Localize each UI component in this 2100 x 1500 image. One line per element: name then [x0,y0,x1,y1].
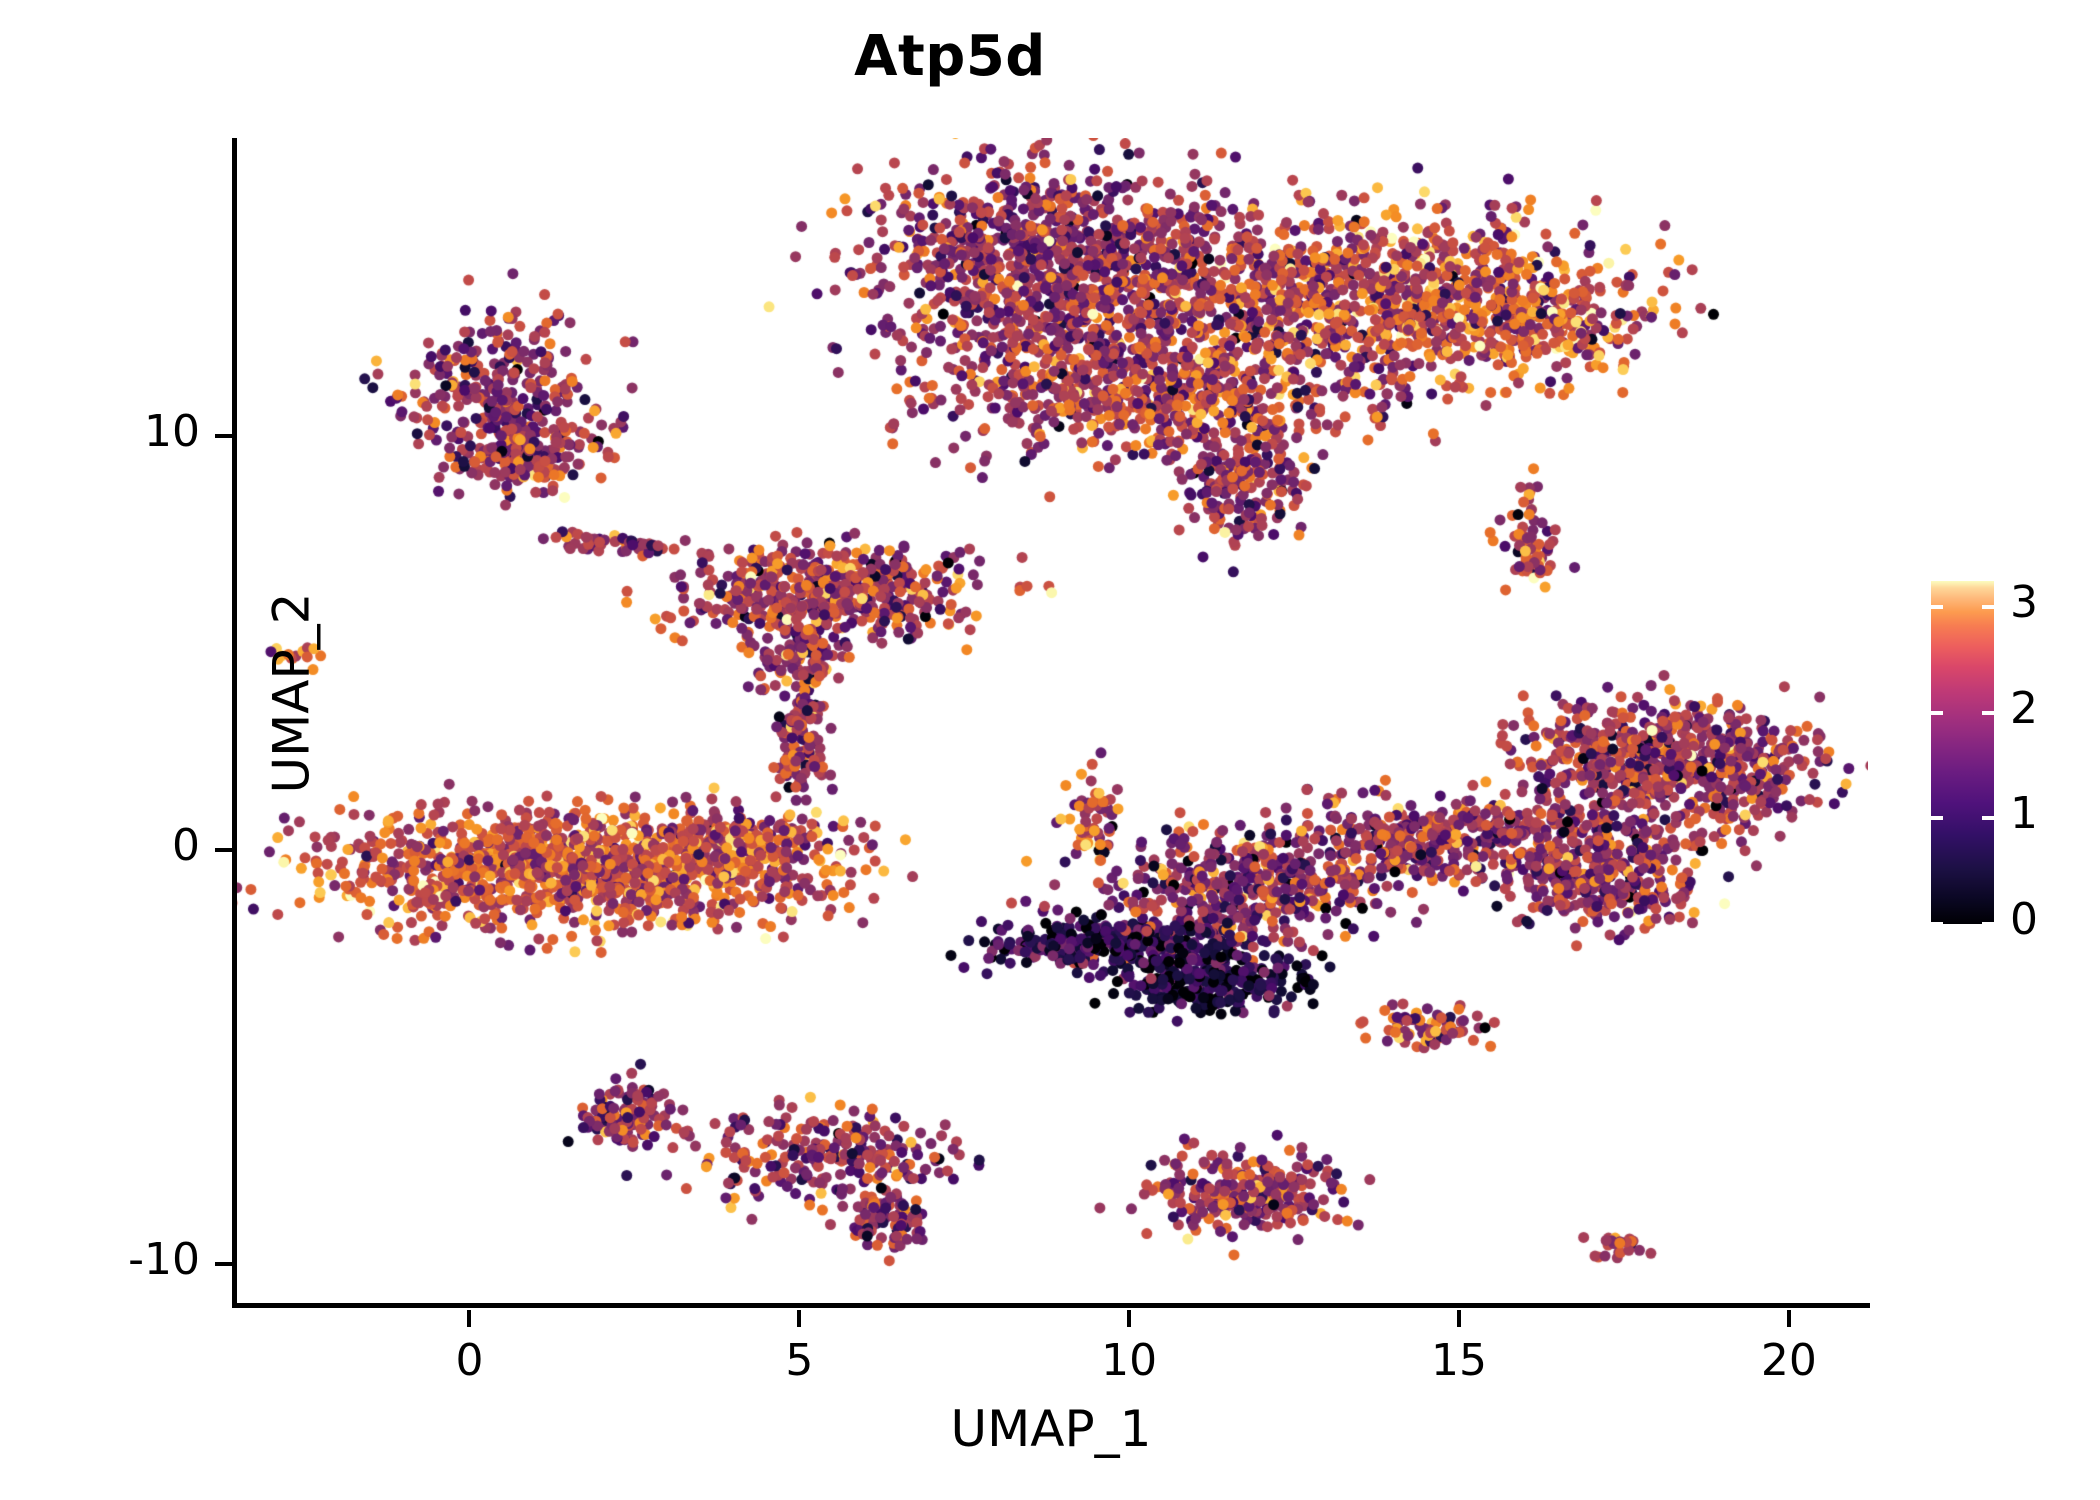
colorbar: 0123 [1931,581,1994,924]
x-tick-label: 10 [1039,1335,1219,1386]
x-tick-label: 0 [379,1335,559,1386]
plot-area [232,138,1868,1305]
scatter-canvas [232,138,1868,1305]
y-axis-label: UMAP_2 [263,110,321,1277]
colorbar-tick-label: 0 [2010,894,2038,945]
colorbar-tick-mark [1931,922,1943,926]
x-tick-label: 20 [1699,1335,1879,1386]
x-tick-mark [1127,1310,1131,1327]
colorbar-tick-mark [1931,816,1943,820]
y-tick-label: -10 [0,1234,200,1285]
y-tick-label: 0 [0,820,200,871]
colorbar-tick-label: 1 [2010,788,2038,839]
colorbar-tick-mark [1931,605,1943,609]
x-tick-mark [1787,1310,1791,1327]
y-tick-label: 10 [0,406,200,457]
x-axis-label: UMAP_1 [232,1400,1870,1458]
colorbar-tick-mark [1982,816,1994,820]
y-tick-mark [215,434,232,438]
colorbar-tick-mark [1982,605,1994,609]
x-tick-mark [797,1310,801,1327]
x-tick-mark [1457,1310,1461,1327]
colorbar-tick-label: 3 [2010,577,2038,628]
x-tick-mark [467,1310,471,1327]
colorbar-tick-mark [1931,711,1943,715]
page-title: Atp5d [0,24,1900,89]
y-tick-mark [215,848,232,852]
y-tick-mark [215,1262,232,1266]
x-tick-label: 5 [709,1335,889,1386]
x-axis-spine [232,1303,1870,1308]
colorbar-tick-label: 2 [2010,683,2038,734]
colorbar-tick-mark [1982,922,1994,926]
colorbar-tick-mark [1982,711,1994,715]
colorbar-gradient [1931,581,1994,924]
x-tick-label: 15 [1369,1335,1549,1386]
y-axis-spine [232,138,237,1308]
umap-feature-plot: Atp5d -1001005101520 UMAP_1 UMAP_2 0123 [0,0,2100,1500]
